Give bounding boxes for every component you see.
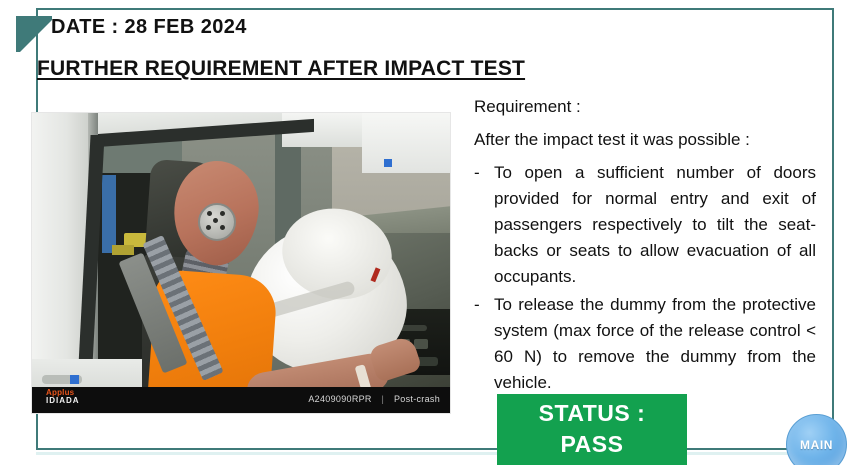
dummy-head-target-disc xyxy=(198,203,236,241)
target-dot xyxy=(220,225,225,230)
target-dot xyxy=(213,218,218,223)
bg-yellow-equipment-2 xyxy=(112,245,134,255)
car-front-body xyxy=(362,113,450,173)
status-badge: STATUS : PASS xyxy=(497,394,687,465)
corner-triangle-icon xyxy=(16,16,52,52)
photo-scene xyxy=(32,113,450,413)
frame-border-right xyxy=(832,8,834,450)
target-dot xyxy=(207,211,212,216)
list-item: - To open a sufficient number of doors p… xyxy=(474,160,816,290)
main-nav-button[interactable]: MAIN xyxy=(786,414,847,465)
status-value: PASS xyxy=(561,429,624,460)
caption-separator: | xyxy=(382,394,385,404)
frame-border-glow xyxy=(36,452,834,455)
blue-target-marker xyxy=(384,159,392,167)
requirement-label: Requirement : xyxy=(474,97,581,117)
bullet-marker: - xyxy=(474,292,494,396)
requirement-intro: After the impact test it was possible : xyxy=(474,130,750,150)
list-item: - To release the dummy from the protecti… xyxy=(474,292,816,396)
bg-blue-post xyxy=(102,175,116,253)
requirement-bullet-list: - To open a sufficient number of doors p… xyxy=(474,160,816,398)
bullet-text: To release the dummy from the protective… xyxy=(494,292,816,396)
bullet-text: To open a sufficient number of doors pro… xyxy=(494,160,816,290)
date-line: DATE : 28 FEB 2024 xyxy=(51,16,247,39)
target-dot xyxy=(206,225,211,230)
logo-idiada-text: IDIADA xyxy=(46,397,80,405)
frame-border-top xyxy=(36,8,834,10)
console-button-3 xyxy=(414,339,428,349)
applus-idiada-logo: Applus IDIADA xyxy=(46,389,80,406)
corner-decoration xyxy=(8,8,52,52)
main-nav-button-label: MAIN xyxy=(800,438,833,452)
frame-border-bottom xyxy=(36,448,834,450)
bullet-marker: - xyxy=(474,160,494,290)
photo-caption-bar: Applus IDIADA A2409090RPR | Post-crash xyxy=(32,387,450,413)
slide-root: DATE : 28 FEB 2024 FURTHER REQUIREMENT A… xyxy=(0,0,850,465)
page-title: FURTHER REQUIREMENT AFTER IMPACT TEST xyxy=(37,57,525,81)
status-label: STATUS : xyxy=(539,398,646,429)
crash-test-photo: Applus IDIADA A2409090RPR | Post-crash xyxy=(32,113,450,413)
blue-target-marker xyxy=(70,375,79,384)
target-dot xyxy=(220,211,225,216)
photo-phase-label: Post-crash xyxy=(394,394,440,404)
photo-test-id: A2409090RPR xyxy=(308,394,371,404)
photo-caption-meta: A2409090RPR | Post-crash xyxy=(308,394,440,404)
